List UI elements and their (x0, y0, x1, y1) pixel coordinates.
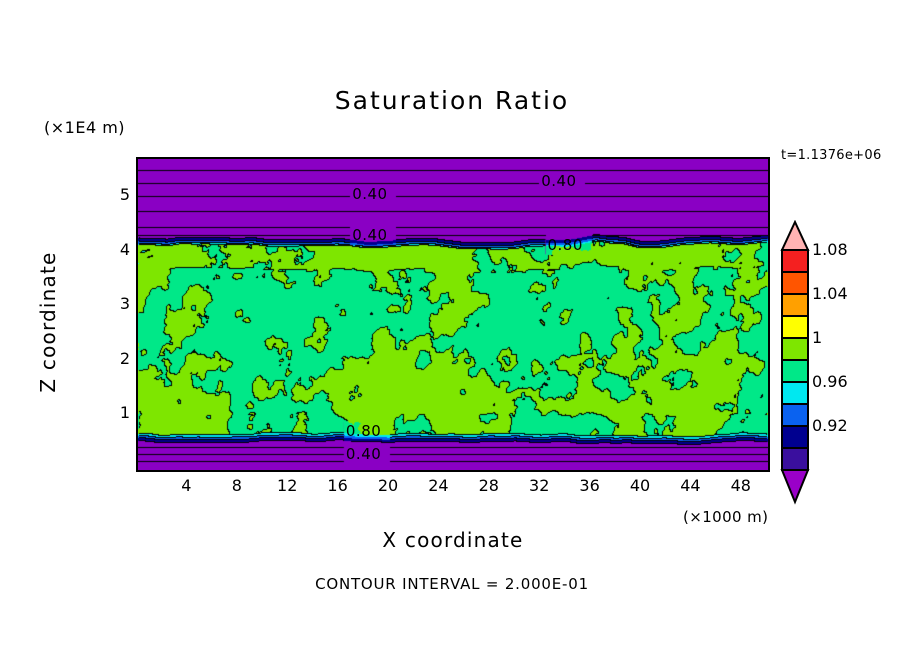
x-tick-label: 8 (232, 478, 242, 494)
colorbar-segment (782, 404, 808, 426)
y-axis-title: Z coordinate (36, 232, 60, 412)
colorbar-under-arrow (782, 470, 808, 502)
colorbar-segment (782, 250, 808, 272)
colorbar-segment (782, 338, 808, 360)
contour-label: 0.40 (346, 445, 381, 463)
colorbar-segment (782, 294, 808, 316)
colorbar-segment (782, 272, 808, 294)
colorbar-tick-label: 1.04 (812, 286, 848, 302)
x-tick-label: 40 (630, 478, 650, 494)
contour-label: 0.80 (346, 422, 381, 440)
contour-interval-caption: CONTOUR INTERVAL = 2.000E-01 (0, 575, 904, 593)
colorbar-tick-label: 0.92 (812, 418, 848, 434)
y-axis-ticks: 12345 (96, 157, 130, 472)
colorbar-tick-label: 0.96 (812, 374, 848, 390)
contour-field-canvas (138, 159, 768, 470)
x-tick-label: 20 (378, 478, 398, 494)
contour-label: 0.80 (548, 236, 583, 254)
contour-label: 0.40 (352, 226, 387, 244)
x-tick-label: 28 (479, 478, 499, 494)
x-tick-label: 48 (731, 478, 751, 494)
y-axis-unit-label: (×1E4 m) (44, 118, 125, 137)
x-tick-label: 12 (277, 478, 297, 494)
contour-label: 0.40 (541, 172, 576, 190)
colorbar-segment (782, 426, 808, 448)
x-tick-label: 32 (529, 478, 549, 494)
y-tick-label: 2 (104, 351, 130, 367)
y-tick-label: 3 (104, 296, 130, 312)
x-tick-label: 44 (680, 478, 700, 494)
y-tick-label: 1 (104, 405, 130, 421)
colorbar-segment (782, 316, 808, 338)
colorbar-tick-label: 1 (812, 330, 822, 346)
colorbar: 1.081.0410.960.92 (778, 220, 898, 525)
colorbar-tick-label: 1.08 (812, 242, 848, 258)
page-title: Saturation Ratio (0, 86, 904, 115)
x-tick-label: 4 (181, 478, 191, 494)
colorbar-segment (782, 448, 808, 470)
x-axis-ticks: 4812162024283236404448 (136, 478, 770, 500)
x-tick-label: 16 (327, 478, 347, 494)
colorbar-over-arrow (782, 222, 808, 250)
x-axis-title: X coordinate (136, 528, 770, 552)
contour-plot-area: 0.400.400.400.800.800.40 (136, 157, 770, 472)
x-tick-label: 24 (428, 478, 448, 494)
y-tick-label: 5 (104, 187, 130, 203)
y-tick-label: 4 (104, 242, 130, 258)
x-tick-label: 36 (579, 478, 599, 494)
time-annotation: t=1.1376e+06 (781, 148, 882, 163)
x-axis-unit-label: (×1000 m) (683, 508, 768, 526)
colorbar-segment (782, 360, 808, 382)
contour-label: 0.40 (352, 185, 387, 203)
colorbar-segment (782, 382, 808, 404)
